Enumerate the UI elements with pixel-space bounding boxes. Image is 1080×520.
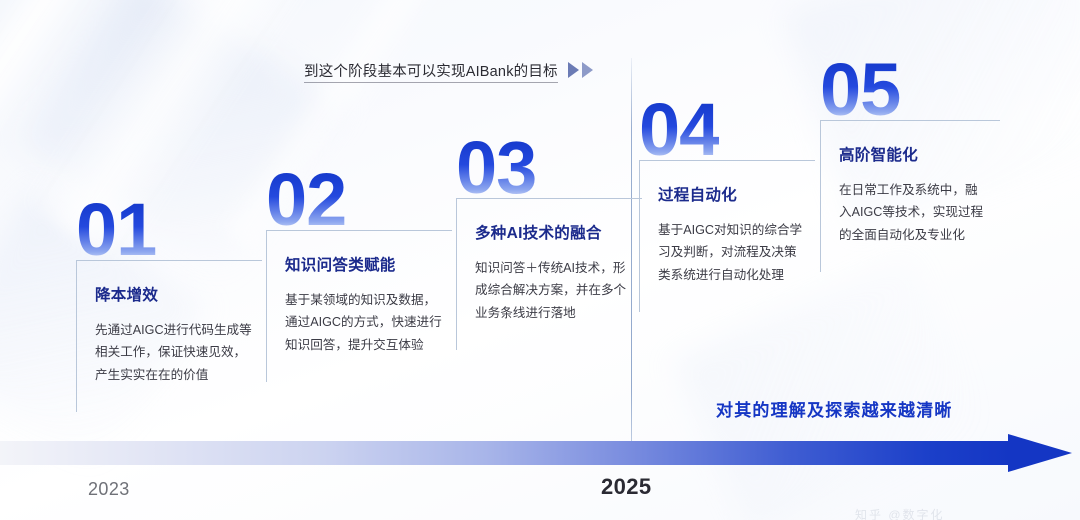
step-card-body-03: 多种AI技术的融合 知识问答＋传统AI技术，形成综合解决方案，并在多个业务条线进… [456,198,642,350]
step-description-03: 知识问答＋传统AI技术，形成综合解决方案，并在多个业务条线进行落地 [475,257,632,324]
year-label-2025: 2025 [601,474,652,500]
step-title-04: 过程自动化 [658,183,805,205]
double-chevron-right-icon [568,62,593,78]
chevron-right-icon-1 [568,62,579,78]
step-card-body-01: 降本增效 先通过AIGC进行代码生成等相关工作，保证快速见效，产生实实在在的价值 [76,260,262,412]
step-title-05: 高阶智能化 [839,143,990,165]
timeline-bar [0,441,1012,465]
step-card-05[interactable]: 05 高阶智能化 在日常工作及系统中，融入AIGC等技术，实现过程的全面自动化及… [820,56,1000,272]
timeline-arrow [0,438,1080,468]
year-label-2023: 2023 [88,479,130,500]
chevron-right-icon-2 [582,62,593,78]
step-description-04: 基于AIGC对知识的综合学习及判断，对流程及决策类系统进行自动化处理 [658,219,805,286]
step-card-03[interactable]: 03 多种AI技术的融合 知识问答＋传统AI技术，形成综合解决方案，并在多个业务… [456,134,642,350]
step-description-01: 先通过AIGC进行代码生成等相关工作，保证快速见效，产生实实在在的价值 [95,319,252,386]
step-number-01: 01 [76,196,156,264]
step-title-03: 多种AI技术的融合 [475,221,632,243]
step-card-body-04: 过程自动化 基于AIGC对知识的综合学习及判断，对流程及决策类系统进行自动化处理 [639,160,815,312]
step-description-02: 基于某领域的知识及数据，通过AIGC的方式，快速进行知识回答，提升交互体验 [285,289,442,356]
watermark: 知乎 @数字化 [855,506,945,520]
slide-canvas: 到这个阶段基本可以实现AIBank的目标 01 降本增效 先通过AIGC进行代码… [0,0,1080,520]
step-number-03: 03 [456,134,536,202]
step-card-02[interactable]: 02 知识问答类赋能 基于某领域的知识及数据，通过AIGC的方式，快速进行知识回… [266,166,452,382]
top-annotation-text: 到这个阶段基本可以实现AIBank的目标 [304,60,558,83]
step-card-body-02: 知识问答类赋能 基于某领域的知识及数据，通过AIGC的方式，快速进行知识回答，提… [266,230,452,382]
timeline-caption: 对其的理解及探索越来越清晰 [716,396,953,421]
right-arrow-icon [1008,434,1072,472]
step-description-05: 在日常工作及系统中，融入AIGC等技术，实现过程的全面自动化及专业化 [839,179,990,246]
top-annotation: 到这个阶段基本可以实现AIBank的目标 [304,60,593,83]
step-card-body-05: 高阶智能化 在日常工作及系统中，融入AIGC等技术，实现过程的全面自动化及专业化 [820,120,1000,272]
step-number-04: 04 [639,96,719,164]
step-card-04[interactable]: 04 过程自动化 基于AIGC对知识的综合学习及判断，对流程及决策类系统进行自动… [639,96,815,312]
step-number-05: 05 [820,56,900,124]
step-card-01[interactable]: 01 降本增效 先通过AIGC进行代码生成等相关工作，保证快速见效，产生实实在在… [76,196,262,412]
step-title-02: 知识问答类赋能 [285,253,442,275]
step-title-01: 降本增效 [95,283,252,305]
step-number-02: 02 [266,166,346,234]
